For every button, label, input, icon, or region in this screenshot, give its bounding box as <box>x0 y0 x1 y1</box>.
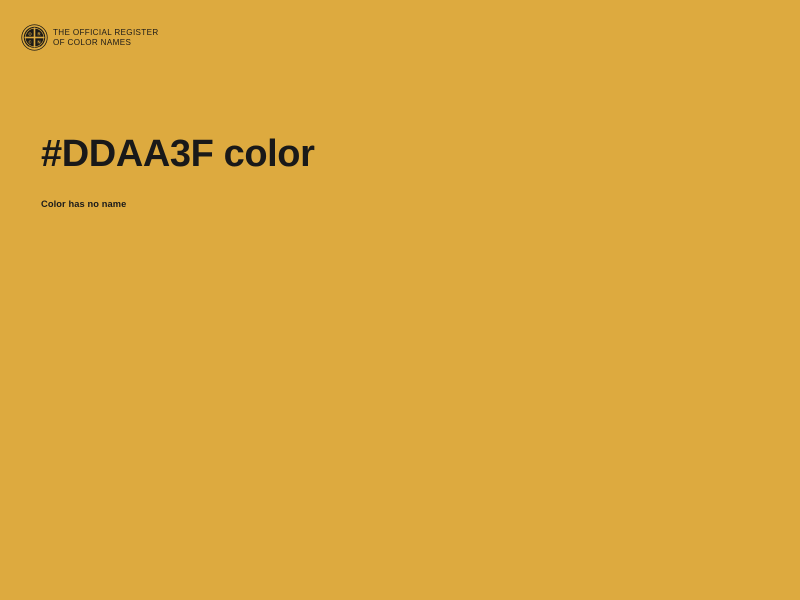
brand-title-line-1: THE OFFICIAL REGISTER <box>53 28 159 38</box>
brand-header[interactable]: O R C N THE OFFICIAL REGISTER OF COLOR N… <box>21 24 159 51</box>
svg-text:N: N <box>37 40 40 45</box>
svg-text:C: C <box>28 40 31 45</box>
brand-title: THE OFFICIAL REGISTER OF COLOR NAMES <box>53 28 159 48</box>
brand-title-line-2: OF COLOR NAMES <box>53 38 159 48</box>
official-register-seal-icon: O R C N <box>21 24 48 51</box>
page-title: #DDAA3F color <box>41 132 315 176</box>
color-page: O R C N THE OFFICIAL REGISTER OF COLOR N… <box>0 0 800 600</box>
svg-text:R: R <box>37 32 40 37</box>
color-name-status: Color has no name <box>41 198 126 211</box>
